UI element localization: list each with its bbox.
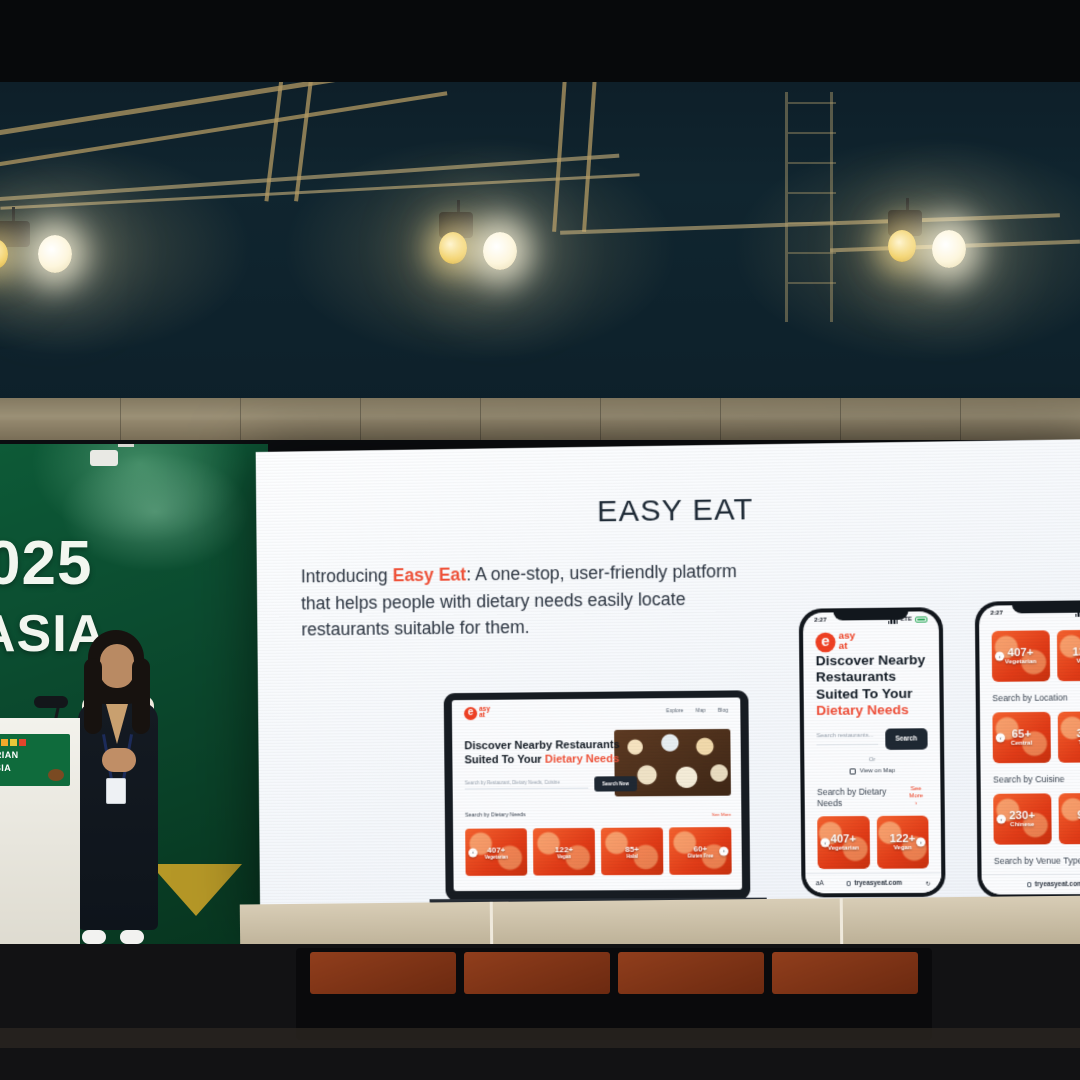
card-label: Vegan	[557, 854, 571, 859]
laptop-headline-accent: Dietary Needs	[545, 753, 620, 766]
view-on-map-label: View on Map	[860, 768, 896, 774]
phone1-search-button[interactable]: Search	[885, 728, 928, 750]
dietary-card[interactable]: 407+Vegetarian ‹	[465, 828, 527, 876]
carousel-next-button[interactable]: ›	[916, 838, 925, 847]
card-count: 407+	[831, 834, 857, 846]
phone1-view-on-map-link[interactable]: View on Map	[804, 768, 940, 775]
phone2-venue-header: Search by Venue Type See More	[994, 855, 1080, 866]
laptop-search-input[interactable]: Search by Restaurant, Dietary Needs, Cui…	[465, 779, 588, 789]
laptop-search-row: Search by Restaurant, Dietary Needs, Cui…	[465, 776, 637, 792]
card-label: Chinese	[1010, 822, 1034, 828]
phone2-cuisine-carousel: 230+Chinese ‹ 98+Thai	[993, 793, 1080, 845]
battery-icon	[915, 616, 927, 623]
carousel-prev-button[interactable]: ‹	[996, 733, 1005, 742]
nav-link-explore[interactable]: Explore	[666, 708, 683, 714]
location-card[interactable]: 31+Town	[1057, 711, 1080, 762]
slide-body-text: Introducing Easy Eat: A one-stop, user-f…	[301, 558, 757, 644]
phone2-screen: 2:27 LTE 407+Vegetarian ‹	[979, 604, 1080, 895]
cuisine-card[interactable]: 230+Chinese ‹	[993, 793, 1051, 844]
dietary-card[interactable]: 122+Vegan	[1056, 630, 1080, 682]
carousel-prev-button[interactable]: ‹	[468, 848, 477, 857]
phone1-headline-line1: Discover Nearby	[816, 652, 927, 670]
stage-light-cluster	[425, 200, 545, 290]
dietary-card[interactable]: 85+Halal	[601, 827, 664, 875]
logo-word-bottom: at	[479, 713, 490, 719]
phone1-search-row: Search restaurants... Search	[816, 728, 927, 750]
card-count: 407+	[487, 845, 505, 854]
card-count: 407+	[1008, 647, 1034, 659]
card-count: 122+	[890, 833, 916, 845]
phone2-dietary-carousel: 407+Vegetarian ‹ 122+Vegan	[992, 630, 1080, 682]
card-count: 122+	[555, 845, 573, 854]
phone1-logo: e asy at	[803, 627, 939, 651]
browser-url[interactable]: tryeasyeat.com	[1027, 881, 1080, 888]
stage-light-cluster	[0, 205, 110, 295]
location-card[interactable]: 65+Central ‹	[992, 712, 1050, 763]
slide-body-highlight: Easy Eat	[393, 564, 467, 585]
browser-url[interactable]: tryeasyeat.com	[847, 880, 902, 887]
phone1-section-label: Search by Dietary Needs	[817, 786, 904, 808]
laptop-section-label: Search by Dietary Needs	[465, 812, 526, 818]
wall-panel-band	[0, 398, 1080, 444]
slide-surface: EASY EAT Introducing Easy Eat: A one-sto…	[256, 439, 1080, 936]
nav-link-map[interactable]: Map	[696, 708, 706, 714]
card-label: Vegan	[893, 846, 911, 852]
status-time: 2:27	[990, 611, 1002, 617]
phone1-headline-accent: Dietary Needs	[816, 702, 927, 720]
stage-light-cluster	[872, 198, 992, 288]
speaker-podium: ARIAN ASIA	[0, 718, 80, 948]
phone-notch	[833, 608, 908, 621]
reload-icon[interactable]: ↻	[925, 879, 931, 887]
phone1-section-header: Search by Dietary Needs See More ›	[817, 786, 928, 809]
ceiling-truss	[0, 154, 619, 203]
text-size-button[interactable]: aA	[816, 880, 824, 887]
laptop-navbar: e asy at Explore Map Blog	[452, 697, 741, 726]
card-count: 85+	[625, 844, 639, 853]
foreground-confidence-monitor	[296, 948, 932, 1040]
carousel-prev-button[interactable]: ‹	[995, 652, 1004, 661]
carousel-next-button[interactable]: ›	[719, 846, 728, 855]
phone-mockup-1: 2:27 LTE e asy at	[799, 607, 946, 897]
phone1-headline: Discover Nearby Restaurants Suited To Yo…	[803, 650, 939, 720]
lock-icon	[1027, 882, 1031, 887]
ceiling-ladder	[785, 92, 833, 322]
podium-sign-line1: ARIAN	[0, 750, 19, 760]
slide-body-lead: Introducing	[301, 565, 393, 586]
browser-url-text: tryeasyeat.com	[1035, 881, 1080, 888]
presentation-led-screen: EASY EAT Introducing Easy Eat: A one-sto…	[256, 439, 1080, 936]
see-more-arrow: ›	[904, 801, 928, 808]
phone1-dietary-carousel: 407+Vegetarian ‹ 122+Vegan ›	[817, 816, 929, 869]
phone1-headline-line3: Suited To Your	[816, 685, 927, 703]
podium-sign-line2: ASIA	[0, 763, 11, 773]
card-label: Vegetarian	[484, 854, 508, 859]
wall-mounted-spotlight	[78, 440, 148, 474]
card-count: 65+	[1012, 728, 1031, 740]
slide-title: EASY EAT	[256, 488, 1080, 534]
card-label: Vegetarian	[828, 846, 859, 852]
laptop-headline-line1: Discover Nearby Restaurants	[464, 739, 636, 754]
card-count: 122+	[1072, 646, 1080, 659]
laptop-headline: Discover Nearby Restaurants Suited To Yo…	[464, 739, 637, 768]
lock-icon	[847, 881, 851, 886]
phone1-search-input[interactable]: Search restaurants...	[816, 733, 877, 746]
laptop-see-more-link[interactable]: See More	[712, 811, 732, 816]
laptop-dietary-carousel: 407+Vegetarian ‹ 122+Vegan 85+Halal 60+G…	[465, 827, 732, 876]
card-count: 230+	[1009, 810, 1035, 822]
conference-stage-photo: 025 ASIA ARIAN ASIA EAS	[0, 0, 1080, 1080]
ceiling-truss	[0, 91, 447, 168]
laptop-screen: e asy at Explore Map Blog	[452, 697, 742, 891]
laptop-headline-line2: Suited To Your	[464, 753, 544, 766]
card-count: 31+	[1076, 728, 1080, 740]
podium-logo-sign: ARIAN ASIA	[0, 734, 70, 786]
browser-url-text: tryeasyeat.com	[854, 880, 902, 887]
phone-notch	[1012, 600, 1080, 613]
phone2-cuisine-header: Search by Cuisine See More	[993, 774, 1080, 785]
card-label: Halal	[626, 853, 637, 858]
phone2-venue-label: Search by Venue Type	[994, 855, 1080, 866]
logo-word-bottom: at	[839, 642, 856, 652]
logo-e-icon: e	[464, 706, 477, 719]
laptop-mockup: e asy at Explore Map Blog	[444, 690, 751, 901]
easyeat-logo: e asy at	[464, 706, 490, 719]
laptop-search-button[interactable]: Search Now	[594, 776, 637, 791]
phone2-cuisine-label: Search by Cuisine	[993, 774, 1065, 785]
map-pin-icon	[849, 768, 855, 774]
dietary-card[interactable]: 407+Vegetarian ‹	[817, 816, 869, 869]
nav-link-blog[interactable]: Blog	[718, 708, 728, 714]
phone2-browser-bar: tryeasyeat.com	[982, 873, 1080, 894]
phone2-location-label: Search by Location	[992, 692, 1068, 703]
card-label: Vegan	[1076, 658, 1080, 664]
cuisine-card[interactable]: 98+Thai	[1058, 793, 1080, 844]
phone1-see-more-link[interactable]: See More ›	[904, 786, 928, 808]
dietary-card[interactable]: 407+Vegetarian ‹	[992, 630, 1050, 682]
phone1-browser-bar: aA tryeasyeat.com ↻	[805, 872, 941, 893]
foreground-floor-strip	[0, 1028, 1080, 1048]
card-label: Gluten Free	[687, 853, 713, 858]
card-count: 60+	[693, 844, 707, 853]
logo-e-icon: e	[815, 632, 835, 652]
see-more-label: See More	[904, 786, 928, 801]
phone2-location-carousel: 65+Central ‹ 31+Town	[992, 711, 1080, 763]
presenter-badge	[106, 778, 126, 804]
card-label: Central	[1011, 741, 1032, 747]
phone1-screen: 2:27 LTE e asy at	[803, 611, 942, 893]
phone-mockup-2: 2:27 LTE 407+Vegetarian ‹	[975, 600, 1080, 899]
phone2-location-header: Search by Location See More	[992, 692, 1080, 703]
letterbox-top	[0, 0, 1080, 82]
dietary-card[interactable]: 122+Vegan	[533, 828, 595, 876]
card-label: Vegetarian	[1005, 659, 1037, 665]
carousel-prev-button[interactable]: ‹	[820, 838, 829, 847]
dietary-card[interactable]: 122+Vegan ›	[876, 816, 929, 869]
dietary-card[interactable]: 60+Gluten Free ›	[669, 827, 732, 875]
laptop-hero: Discover Nearby Restaurants Suited To Yo…	[464, 739, 637, 792]
carousel-prev-button[interactable]: ‹	[997, 815, 1006, 824]
phone1-headline-line2: Restaurants	[816, 669, 927, 687]
laptop-section-header: Search by Dietary Needs See More	[465, 811, 731, 819]
status-time: 2:27	[814, 618, 826, 624]
phone1-or-label: Or	[804, 756, 940, 763]
